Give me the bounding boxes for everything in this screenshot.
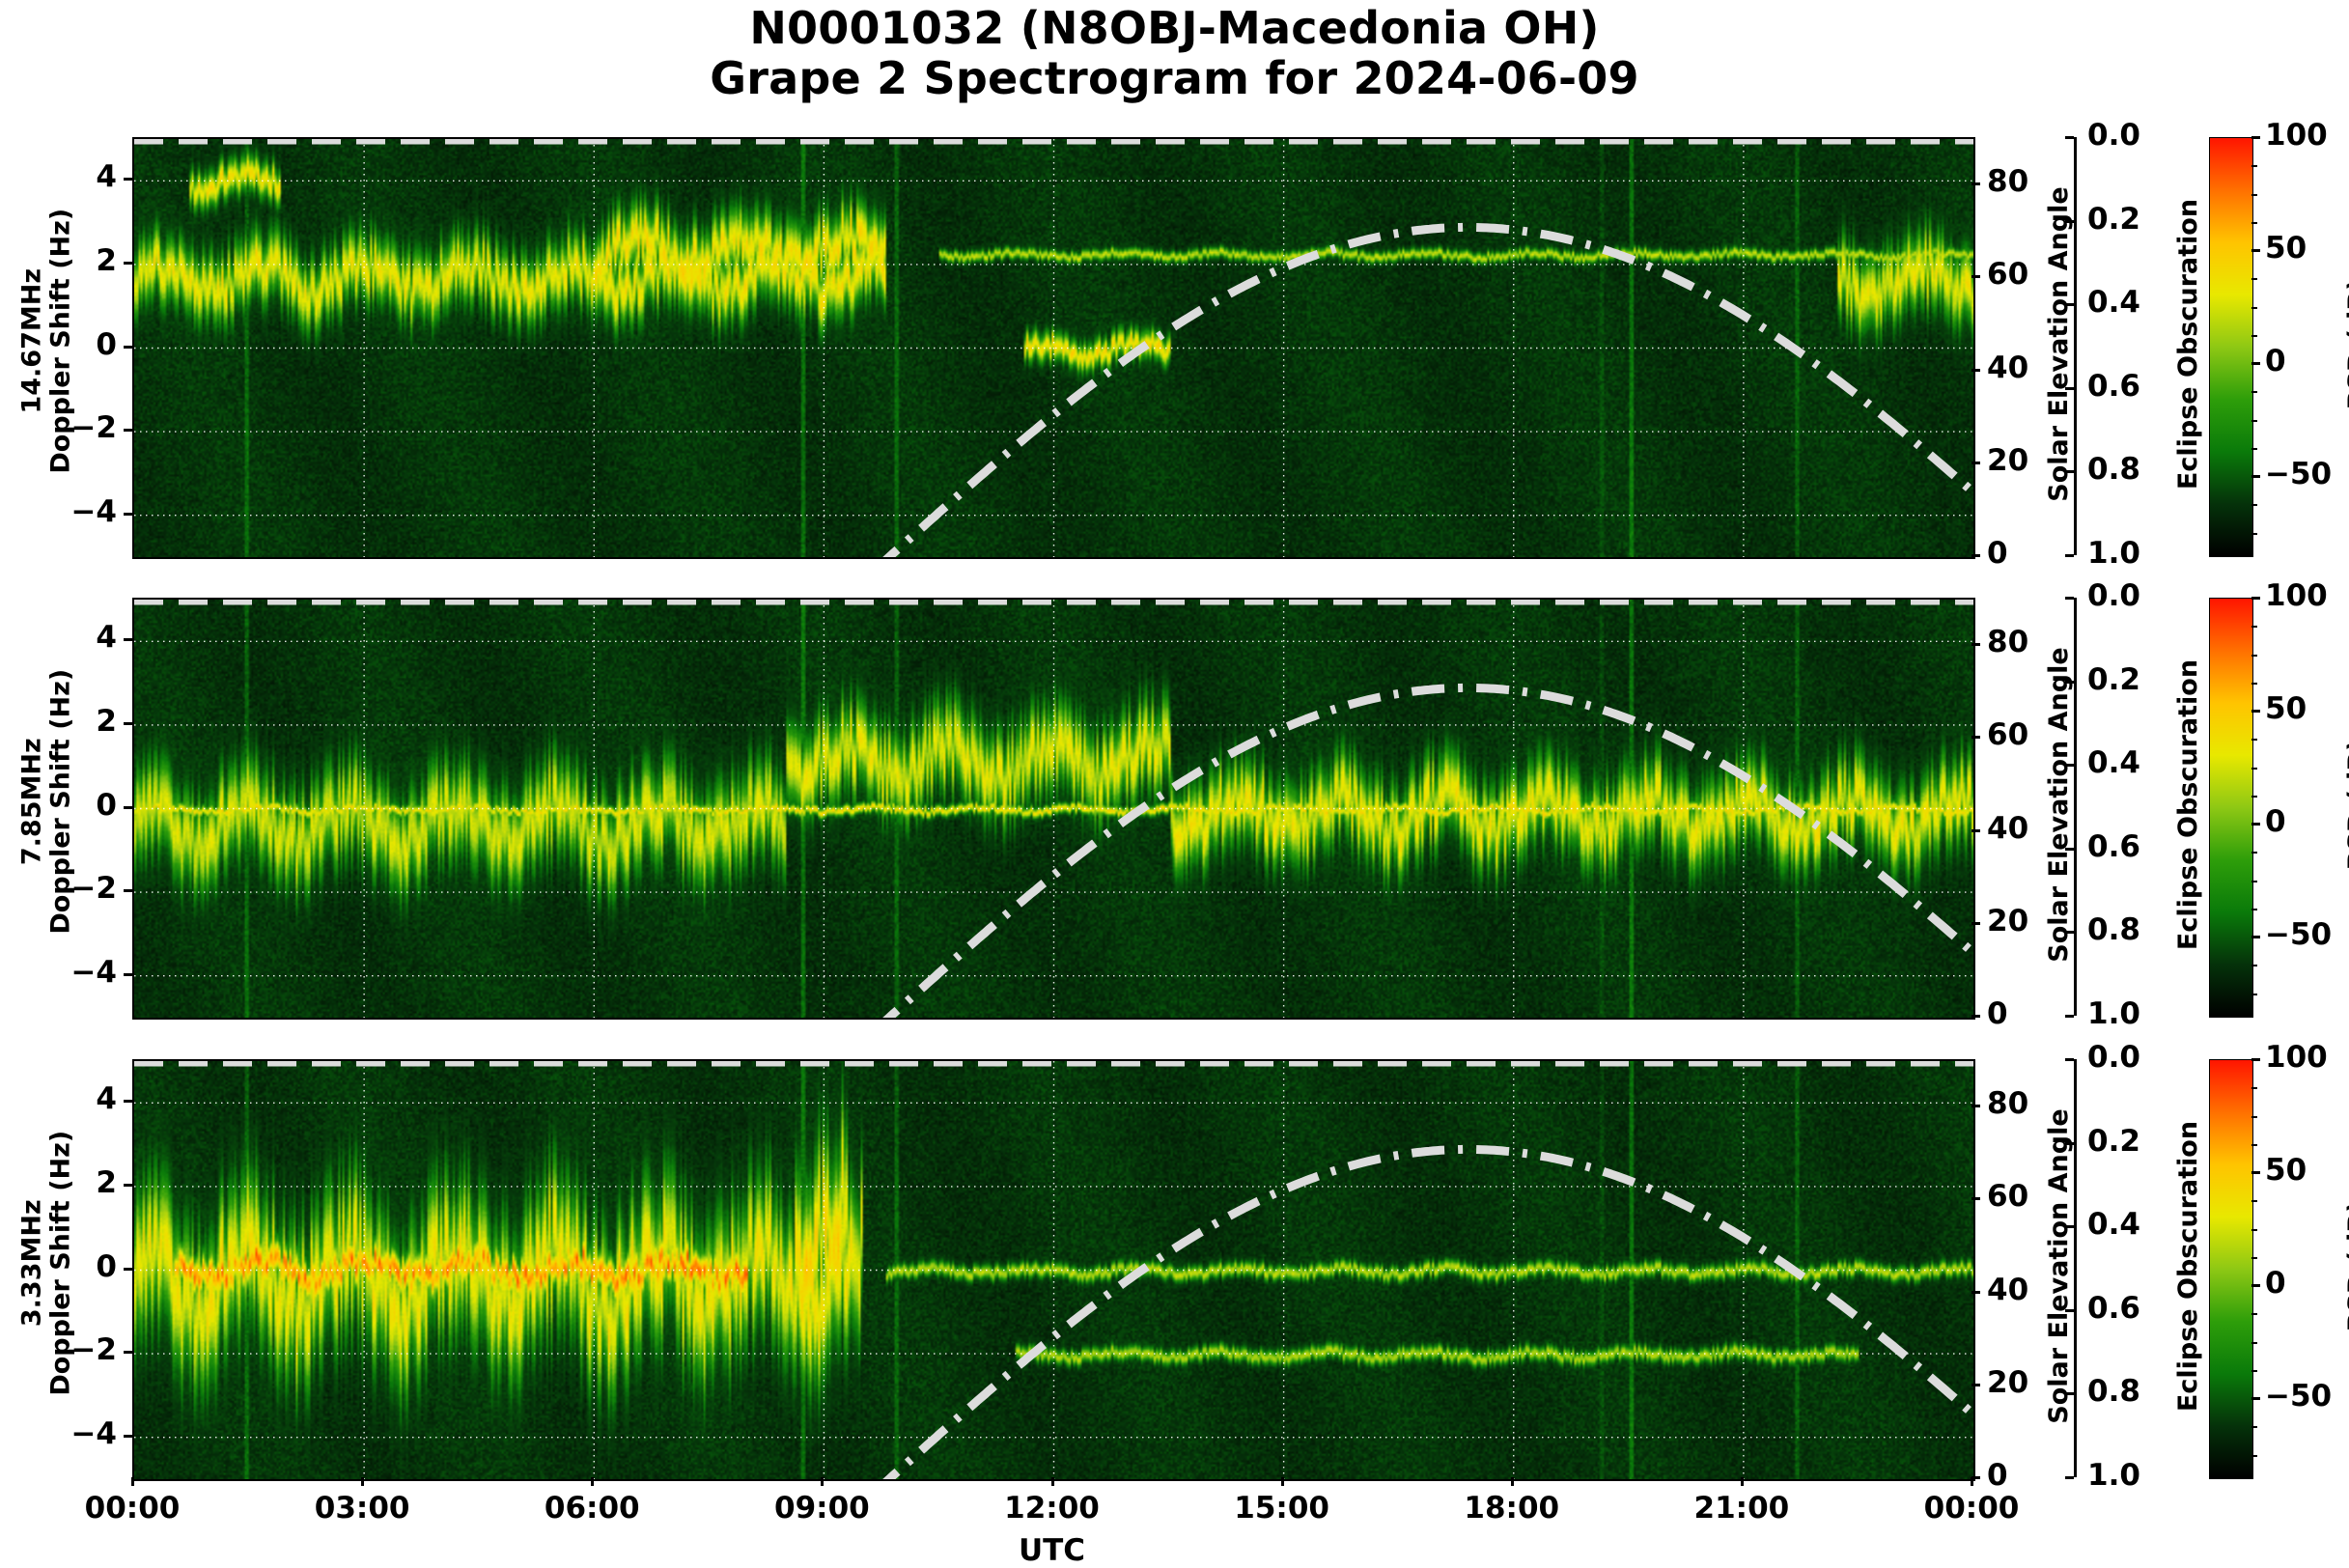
colorbar-minor-tick-mark xyxy=(2251,1313,2257,1315)
y-axis-tick-label: 0 xyxy=(28,1249,117,1284)
y-axis-tick-mark xyxy=(124,1268,132,1271)
eclipse-obscuration-tick-mark xyxy=(2065,1476,2074,1479)
x-axis-tick-mark xyxy=(1971,1477,1973,1486)
y-axis-tick-mark xyxy=(124,1435,132,1438)
y-axis-tick-label: −2 xyxy=(28,1332,117,1367)
x-axis-tick-label: 21:00 xyxy=(1655,1491,1829,1526)
y-axis-tick-label: −4 xyxy=(28,1416,117,1451)
colorbar-minor-tick-mark xyxy=(2251,1455,2257,1457)
colorbar-minor-tick-mark xyxy=(2251,1116,2257,1118)
eclipse-obscuration-tick-mark xyxy=(2065,1225,2074,1228)
x-axis-tick-mark xyxy=(361,1477,364,1486)
x-axis-tick-label: 15:00 xyxy=(1195,1491,1369,1526)
x-axis-tick-label: 00:00 xyxy=(45,1491,219,1526)
solar-elevation-tick-mark xyxy=(1971,1291,1980,1294)
colorbar-minor-tick-mark xyxy=(2251,1426,2257,1428)
psd-colorbar xyxy=(2209,1059,2253,1479)
eclipse-obscuration-tick-label: 0.8 xyxy=(2087,1374,2140,1409)
solar-elevation-tick-mark xyxy=(1971,1105,1980,1107)
x-axis-tick-mark xyxy=(1051,1477,1054,1486)
spectrogram-page: N0001032 (N8OBJ-Macedonia OH) Grape 2 Sp… xyxy=(0,0,2349,1557)
y-axis-tick-label: 4 xyxy=(28,1081,117,1116)
y-axis-tick-mark xyxy=(124,1351,132,1354)
x-axis-tick-mark xyxy=(131,1477,134,1486)
x-axis-label: UTC xyxy=(132,1533,1971,1568)
colorbar-tick-label: −50 xyxy=(2265,1379,2332,1414)
eclipse-obscuration-tick-mark xyxy=(2065,1309,2074,1312)
colorbar-tick-label: 100 xyxy=(2265,1040,2328,1075)
eclipse-obscuration-tick-mark xyxy=(2065,1392,2074,1395)
x-axis-tick-label: 03:00 xyxy=(275,1491,449,1526)
x-axis-tick-label: 00:00 xyxy=(1885,1491,2058,1526)
solar-elevation-tick-label: 60 xyxy=(1987,1179,2028,1214)
x-axis-tick-label: 09:00 xyxy=(735,1491,909,1526)
spectrogram-image xyxy=(134,1061,1973,1479)
eclipse-obscuration-tick-label: 0.0 xyxy=(2087,1040,2140,1075)
solar-elevation-tick-mark xyxy=(1971,1384,1980,1386)
solar-elevation-tick-label: 40 xyxy=(1987,1273,2028,1307)
eclipse-obscuration-tick-label: 0.2 xyxy=(2087,1124,2140,1159)
x-axis-tick-mark xyxy=(1281,1477,1284,1486)
x-axis-tick-mark xyxy=(1741,1477,1744,1486)
eclipse-obscuration-tick-label: 1.0 xyxy=(2087,1458,2140,1493)
colorbar-minor-tick-mark xyxy=(2251,1342,2257,1344)
colorbar-minor-tick-mark xyxy=(2251,1285,2257,1287)
solar-elevation-tick-label: 20 xyxy=(1987,1365,2028,1400)
colorbar-minor-tick-mark xyxy=(2251,1229,2257,1231)
colorbar-minor-tick-mark xyxy=(2251,1172,2257,1174)
colorbar-label: PSD (dB) xyxy=(2343,1028,2349,1504)
eclipse-obscuration-axis-spine xyxy=(2074,1059,2077,1477)
colorbar-minor-tick-mark xyxy=(2251,1200,2257,1202)
eclipse-obscuration-axis-label: Eclipse Obscuration xyxy=(2173,1028,2203,1504)
colorbar-minor-tick-mark xyxy=(2251,1144,2257,1146)
colorbar-tick-label: 0 xyxy=(2265,1266,2286,1301)
solar-elevation-tick-label: 0 xyxy=(1987,1458,2008,1493)
x-axis-tick-mark xyxy=(1511,1477,1514,1486)
colorbar-minor-tick-mark xyxy=(2251,1398,2257,1400)
eclipse-obscuration-tick-mark xyxy=(2065,1058,2074,1061)
solar-elevation-axis-label: Solar Elevation Angle xyxy=(2044,1028,2074,1504)
colorbar-minor-tick-mark xyxy=(2251,1370,2257,1372)
colorbar-tick-label: 50 xyxy=(2265,1153,2307,1188)
y-axis-tick-mark xyxy=(124,1100,132,1103)
eclipse-obscuration-tick-mark xyxy=(2065,1142,2074,1145)
x-axis-tick-label: 06:00 xyxy=(505,1491,679,1526)
solar-elevation-tick-label: 80 xyxy=(1987,1086,2028,1121)
colorbar-minor-tick-mark xyxy=(2251,1087,2257,1089)
solar-elevation-tick-mark xyxy=(1971,1197,1980,1200)
panel-3.33MHz: 3.33MHzDoppler Shift (Hz)420−2−402040608… xyxy=(0,0,2349,1557)
spectrogram-plot-area[interactable] xyxy=(132,1059,1975,1481)
y-axis-tick-mark xyxy=(124,1184,132,1187)
eclipse-obscuration-tick-label: 0.6 xyxy=(2087,1291,2140,1326)
colorbar-minor-tick-mark xyxy=(2251,1257,2257,1259)
eclipse-obscuration-tick-label: 0.4 xyxy=(2087,1207,2140,1242)
x-axis-tick-mark xyxy=(591,1477,594,1486)
y-axis-tick-label: 2 xyxy=(28,1165,117,1200)
x-axis-tick-mark xyxy=(821,1477,824,1486)
x-axis-tick-label: 18:00 xyxy=(1425,1491,1599,1526)
colorbar-minor-tick-mark xyxy=(2251,1059,2257,1061)
x-axis-tick-label: 12:00 xyxy=(965,1491,1139,1526)
